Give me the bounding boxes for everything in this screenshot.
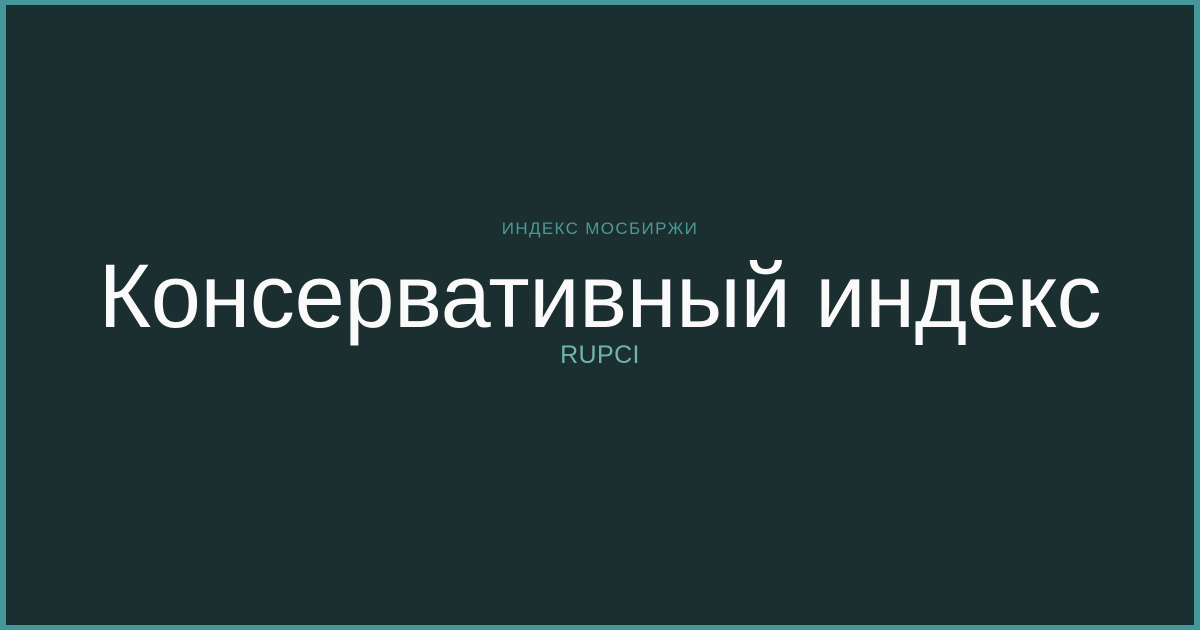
card-content-stack: ИНДЕКС МОСБИРЖИ Консервативный индекс RU… (6, 218, 1194, 370)
index-card: ИНДЕКС МОСБИРЖИ Консервативный индекс RU… (0, 0, 1200, 630)
card-eyebrow: ИНДЕКС МОСБИРЖИ (502, 218, 698, 240)
ticker-symbol: RUPCI (560, 340, 640, 370)
page-title: Консервативный индекс (99, 249, 1102, 345)
